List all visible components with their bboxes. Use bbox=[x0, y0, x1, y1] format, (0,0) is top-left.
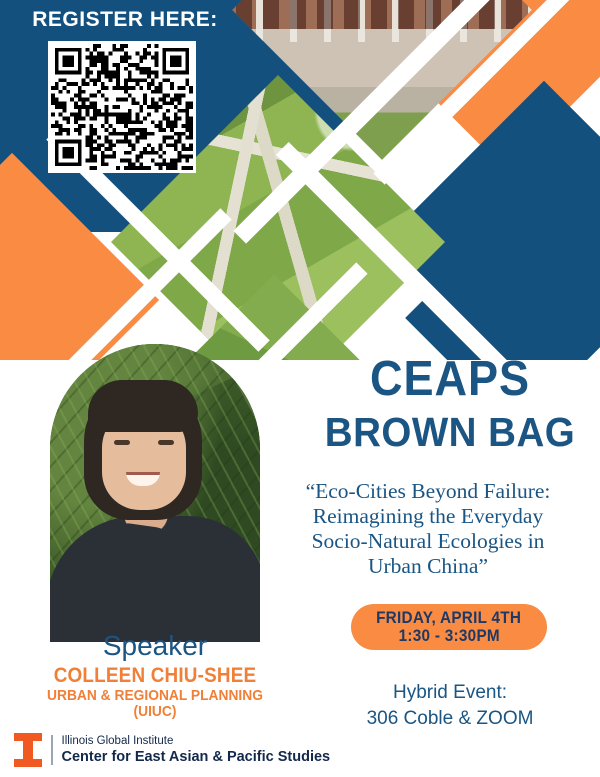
event-date: FRIDAY, APRIL 4TH bbox=[376, 609, 521, 627]
footer-institute-name: Illinois Global Institute bbox=[62, 734, 331, 748]
portrait-fringe bbox=[88, 380, 198, 432]
event-time: 1:30 - 3:30PM bbox=[398, 627, 499, 645]
speaker-institution: (UIUC) bbox=[31, 704, 279, 721]
qr-code[interactable] bbox=[48, 41, 196, 173]
talk-title-line-4: Urban China” bbox=[268, 554, 588, 579]
talk-title: “Eco-Cities Beyond Failure: Reimagining … bbox=[268, 479, 588, 579]
talk-title-line-1: “Eco-Cities Beyond Failure: bbox=[268, 479, 588, 504]
speaker-name: COLLEEN CHIU-SHEE bbox=[34, 665, 277, 686]
event-datetime-badge: FRIDAY, APRIL 4TH 1:30 - 3:30PM bbox=[351, 604, 547, 650]
talk-title-line-3: Socio-Natural Ecologies in bbox=[268, 529, 588, 554]
speaker-heading: Speaker bbox=[20, 632, 290, 660]
register-here-label: REGISTER HERE: bbox=[0, 8, 250, 32]
talk-title-line-2: Reimagining the Everyday bbox=[268, 504, 588, 529]
event-location: Hybrid Event: 306 Coble & ZOOM bbox=[330, 680, 570, 731]
event-poster: REGISTER HERE: CEAPS BROWN BAG “Eco-Citi… bbox=[0, 0, 600, 777]
page-title: CEAPS bbox=[312, 356, 588, 403]
footer-center-name: Center for East Asian & Pacific Studies bbox=[62, 748, 331, 766]
footer-divider bbox=[51, 735, 53, 765]
illinois-block-i-icon bbox=[14, 733, 42, 767]
event-location-line-1: Hybrid Event: bbox=[330, 680, 570, 706]
event-location-line-2: 306 Coble & ZOOM bbox=[330, 706, 570, 732]
qr-code-image bbox=[51, 44, 193, 170]
footer-branding: Illinois Global Institute Center for Eas… bbox=[14, 733, 330, 767]
page-subtitle: BROWN BAG bbox=[309, 412, 591, 453]
speaker-portrait bbox=[50, 344, 260, 642]
